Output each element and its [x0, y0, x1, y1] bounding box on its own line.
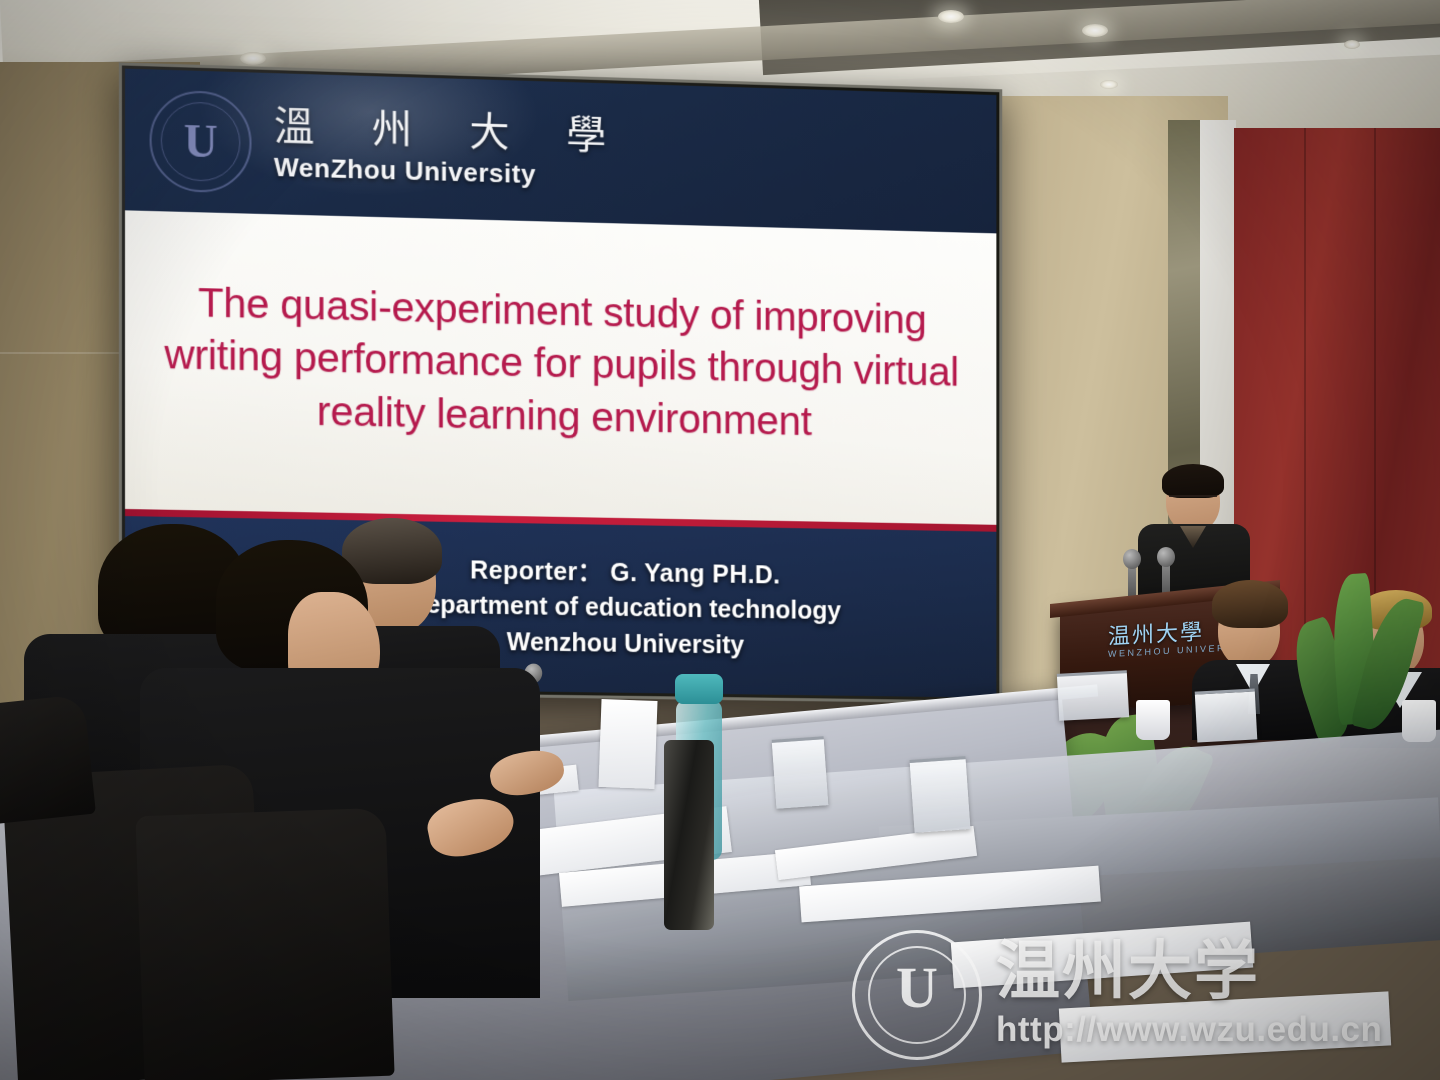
ceiling-downlight-icon	[1344, 40, 1360, 49]
slide-reporter-line: Reporter： G. Yang PH.D.	[470, 553, 780, 594]
slide-header-text: 溫 州 大 學 WenZhou University	[274, 105, 628, 192]
ceiling-downlight-icon	[240, 52, 266, 65]
bottle-cap	[675, 674, 723, 704]
paper-cup	[1402, 700, 1436, 742]
slide-body: The quasi-experiment study of improving …	[125, 210, 996, 524]
printed-document	[598, 699, 657, 789]
name-card-holder	[772, 736, 829, 808]
wenzhou-university-seal-icon: U	[150, 90, 252, 194]
name-card-holder	[1195, 688, 1258, 742]
slide-title: The quasi-experiment study of improving …	[160, 275, 963, 450]
conference-room-photo: U 溫 州 大 學 WenZhou University The quasi-e…	[0, 0, 1440, 1080]
printed-document	[1059, 991, 1391, 1062]
name-card-holder	[1057, 670, 1129, 721]
name-card-holder	[910, 756, 971, 833]
ceiling-downlight-icon	[938, 10, 964, 23]
ceiling-downlight-icon	[1100, 80, 1118, 89]
paper-cup	[1136, 700, 1170, 740]
seal-monogram: U	[184, 118, 218, 165]
black-thermos	[664, 740, 714, 930]
university-name-cn: 溫 州 大 學	[274, 105, 628, 157]
chair	[135, 808, 394, 1080]
attendee-hair	[1212, 580, 1288, 628]
glasses-icon	[1169, 495, 1217, 506]
slide-university-line: Wenzhou University	[507, 625, 744, 664]
chair	[0, 694, 96, 826]
ceiling-downlight-icon	[1082, 24, 1108, 37]
presenter-hair	[1162, 464, 1224, 498]
slide-header: U 溫 州 大 學 WenZhou University	[125, 69, 996, 234]
